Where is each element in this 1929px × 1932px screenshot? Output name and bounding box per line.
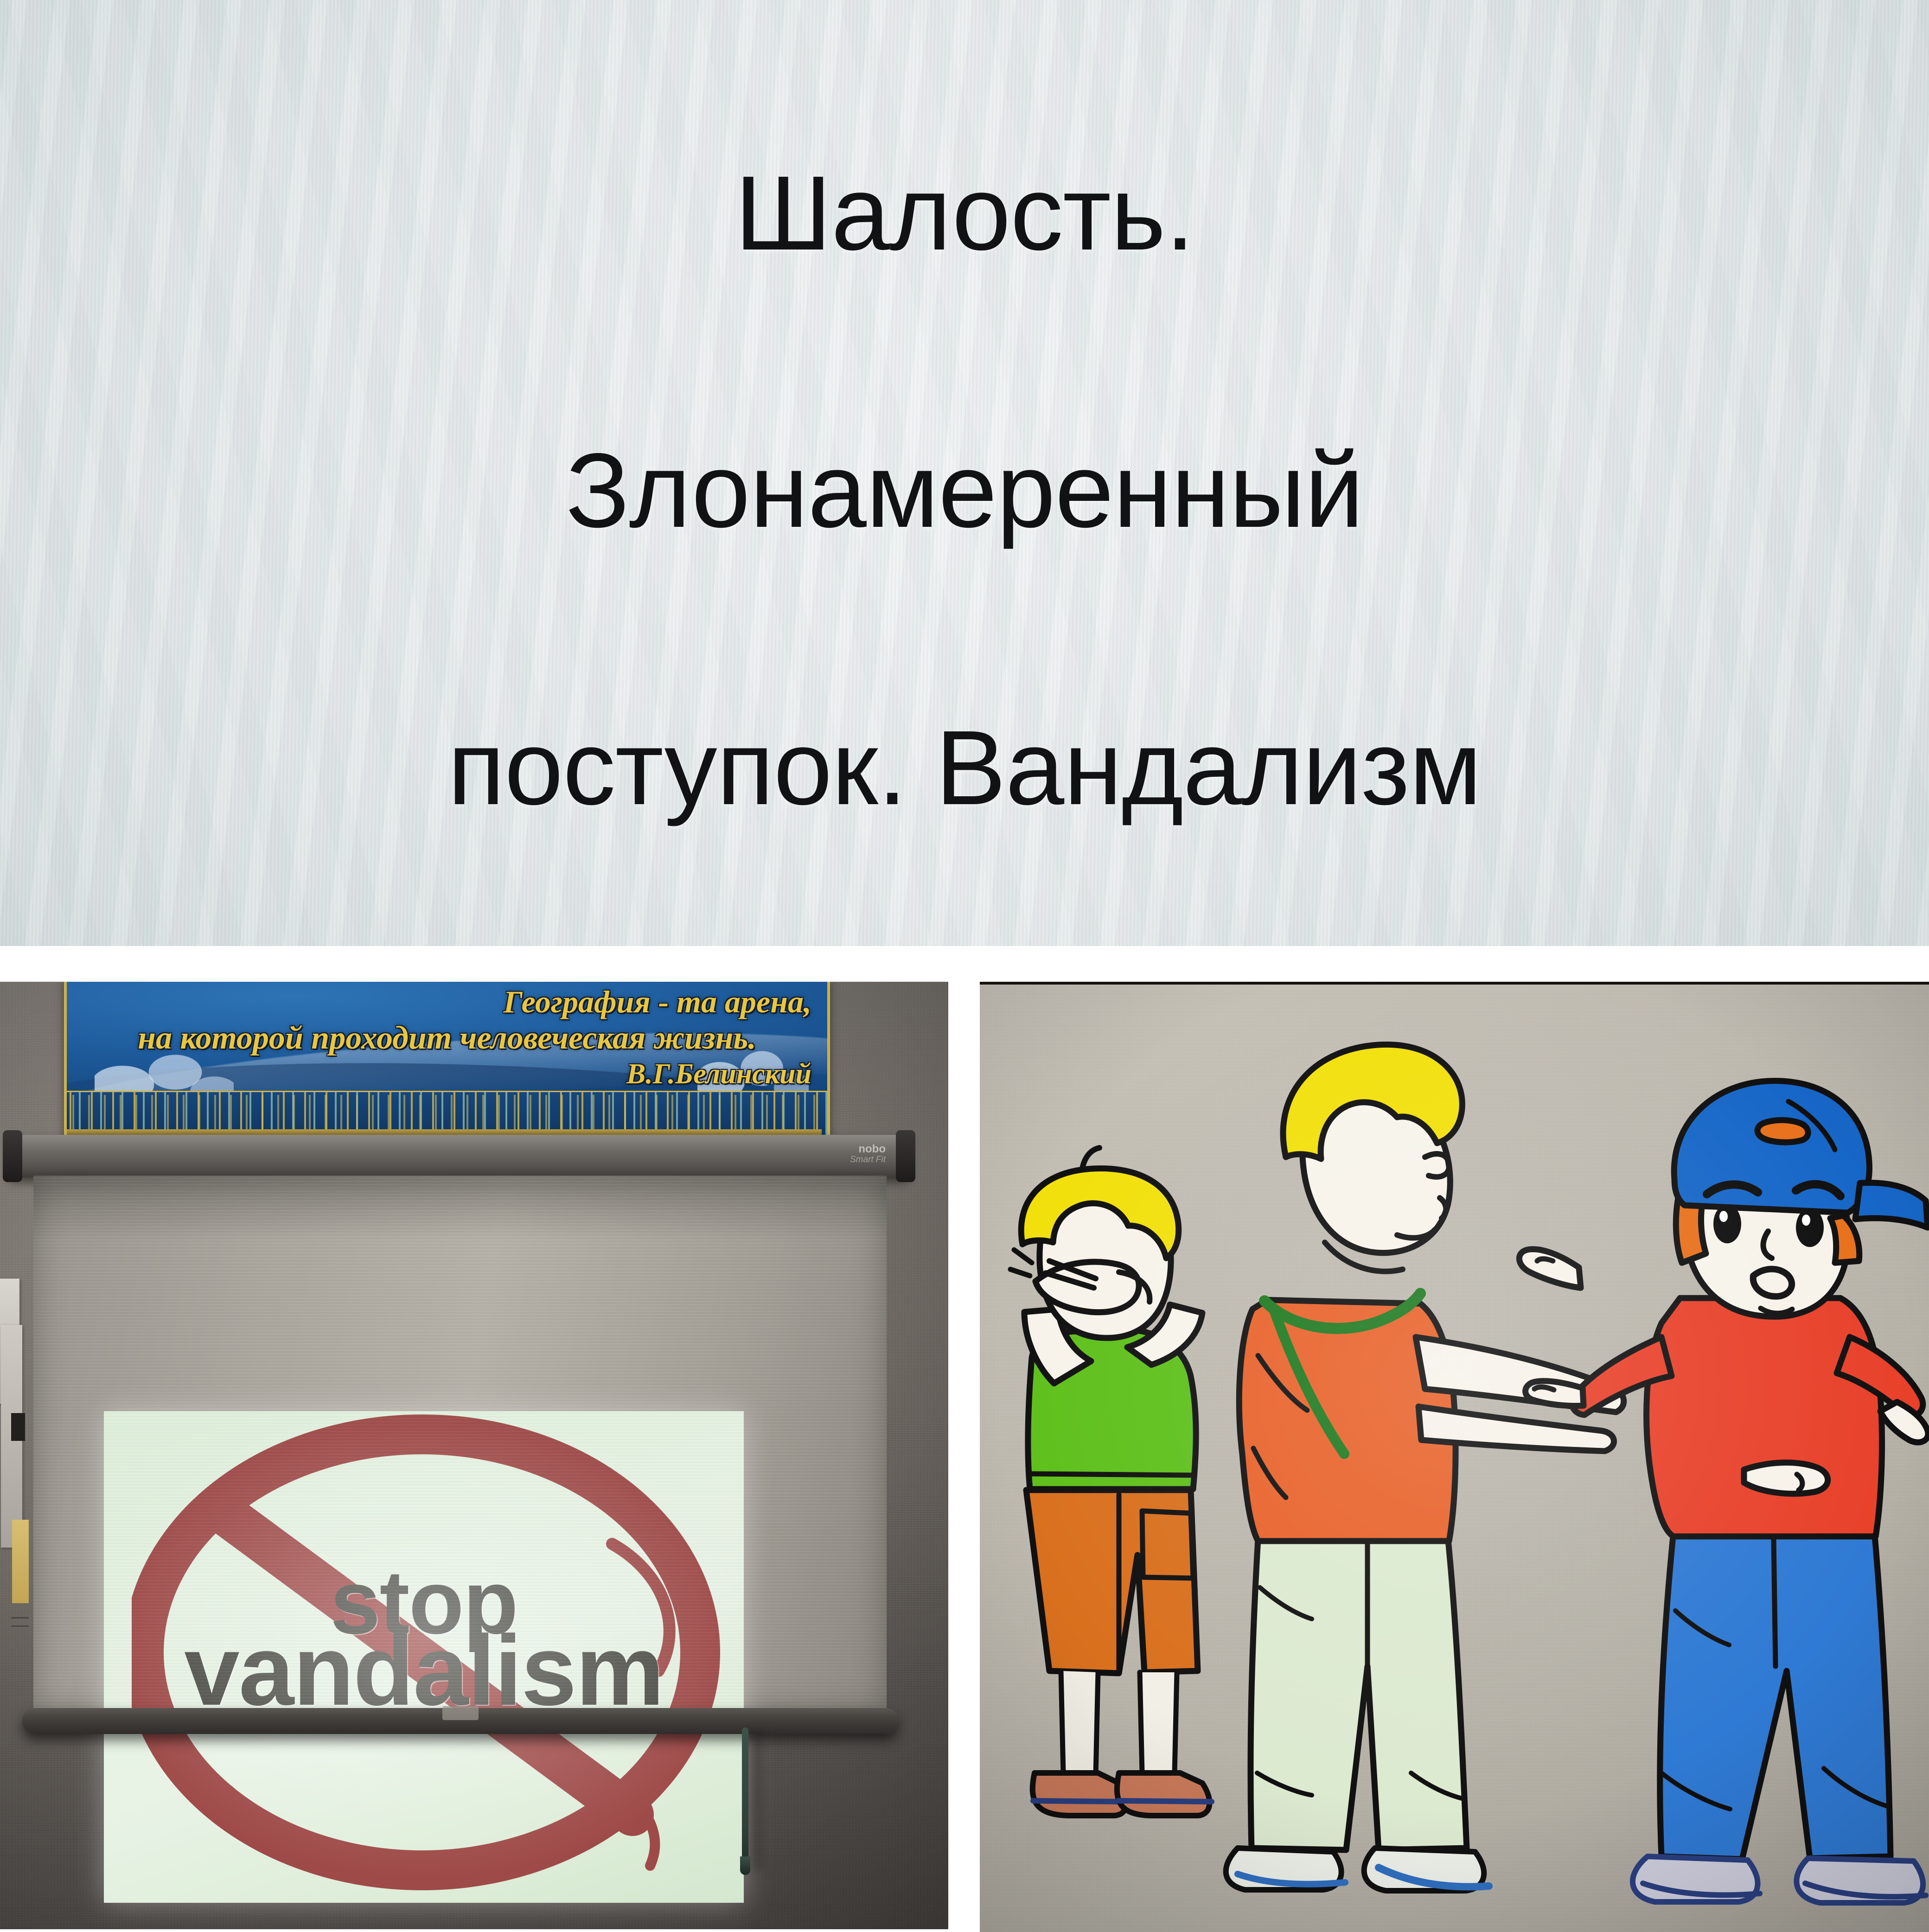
slide-title-line-1: Шалость. [56,145,1873,282]
geography-quote-banner: География - та арена, на которой проходи… [64,982,830,1140]
screen-brand-name: nobo [830,1143,886,1155]
wall-dark-patch [11,1413,25,1441]
screen-housing-cap-right [896,1130,915,1182]
banner-quote-author: В.Г.Белинский [67,1058,827,1091]
screen-center-knob [442,1706,479,1720]
slide-title-line-2: Злонамеренный [56,422,1873,559]
cartoon-canvas-vignette [980,985,1929,1932]
screen-pull-cord[interactable] [742,1727,748,1867]
screen-brand-label: nobo Smart Fit [830,1143,886,1164]
slide-title-line-3: поступок. Вандализм [56,699,1873,837]
bottom-right-panel-cartoon [980,982,1929,1932]
screen-housing-cap-left [3,1130,22,1182]
no-vandalism-sign-icon [104,1411,744,1903]
projection-screen-housing[interactable]: nobo Smart Fit [9,1135,909,1177]
wall-line-mark-1 [11,1617,29,1619]
photo-collage: Шалость. Злонамеренный поступок. Вандали… [0,0,1929,1929]
projected-stop-vandalism-slide: stop vandalism [104,1411,744,1903]
projection-screen-weight-bar[interactable] [22,1708,899,1734]
projection-screen-canvas: stop vandalism [33,1176,887,1711]
top-panel-projected-slide: Шалость. Злонамеренный поступок. Вандали… [0,0,1929,946]
banner-quote-line-2: на которой проходит человеческая жизнь. [67,1020,827,1057]
wall-line-mark-2 [11,1625,29,1627]
bottom-left-panel-classroom: География - та арена, на которой проходи… [0,982,948,1929]
banner-quote-line-1: География - та арена, [67,984,827,1020]
horizontal-gutter [0,946,1929,982]
vertical-gutter [948,982,980,1929]
wall-yellow-note [12,1520,29,1603]
banner-ornament-border [67,1091,827,1135]
stop-word: stop [104,1550,744,1654]
screen-brand-sub: Smart Fit [830,1155,886,1165]
slide-title-text: Шалость. Злонамеренный поступок. Вандали… [0,0,1929,946]
